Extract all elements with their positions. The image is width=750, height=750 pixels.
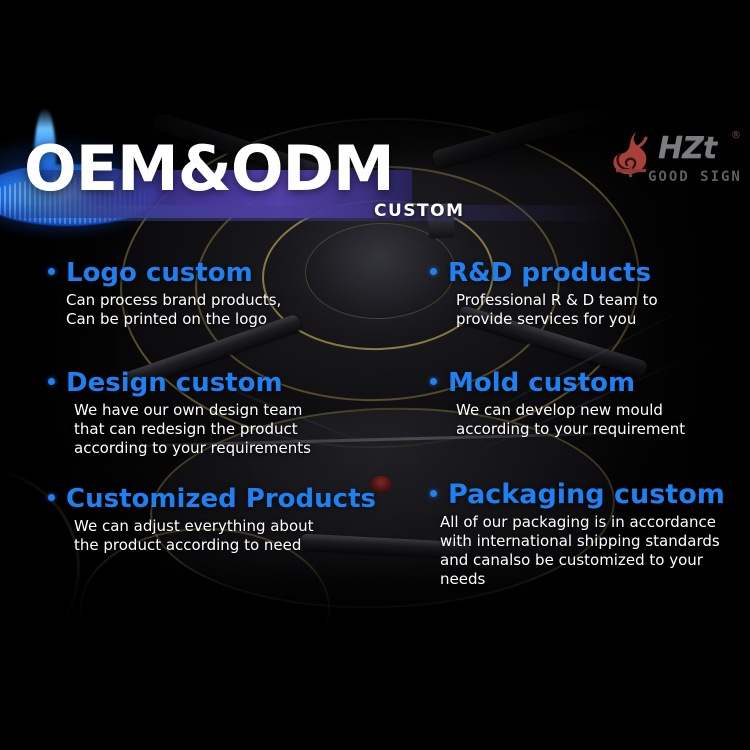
feature-title: R&D products (448, 258, 651, 288)
page-title: OEM&ODM (24, 138, 394, 200)
letterbox-bar-top (0, 0, 750, 108)
feature-description: Professional R & D team to provide servi… (430, 291, 658, 329)
bullet-icon (48, 268, 55, 275)
feature-title: Logo custom (66, 258, 253, 288)
feature-description: We can adjust everything about the produ… (48, 517, 376, 555)
feature-heading: Packaging custom (430, 480, 750, 510)
headline-gradient-band-lower (0, 205, 700, 221)
feature-description: Can process brand products, Can be print… (48, 291, 281, 329)
feature-title: Customized Products (66, 484, 376, 514)
bullet-icon (430, 490, 437, 497)
feature-description: We have our own design team that can red… (48, 401, 311, 458)
feature-mold-custom: Mold custom We can develop new mould acc… (430, 368, 685, 439)
feature-title: Mold custom (448, 368, 635, 398)
feature-title: Design custom (66, 368, 283, 398)
oem-odm-promo-banner: OEM&ODM CUSTOM HZt ® GOOD SIGN Logo cust… (0, 0, 750, 750)
feature-logo-custom: Logo custom Can process brand products, … (48, 258, 281, 329)
page-subtitle: CUSTOM (374, 201, 465, 221)
brand-logo: HZt ® GOOD SIGN (604, 128, 746, 194)
feature-packaging-custom: Packaging custom All of our packaging is… (430, 480, 750, 589)
feature-description: We can develop new mould according to yo… (430, 401, 685, 439)
feature-title: Packaging custom (448, 479, 725, 510)
feature-list: Logo custom Can process brand products, … (0, 258, 750, 598)
feature-heading: Customized Products (48, 484, 376, 514)
letterbox-bar-bottom (0, 626, 750, 750)
feature-customized-products: Customized Products We can adjust everyt… (48, 484, 376, 555)
feature-rd-products: R&D products Professional R & D team to … (430, 258, 658, 329)
bullet-icon (430, 378, 437, 385)
bullet-icon (48, 378, 55, 385)
bullet-icon (430, 268, 437, 275)
bullet-icon (48, 494, 55, 501)
feature-heading: Mold custom (430, 368, 685, 398)
feature-heading: Design custom (48, 368, 311, 398)
feature-heading: Logo custom (48, 258, 281, 288)
logo-wordmark: HZt (658, 134, 716, 164)
feature-design-custom: Design custom We have our own design tea… (48, 368, 311, 458)
logo-tagline: GOOD SIGN (648, 169, 742, 185)
feature-heading: R&D products (430, 258, 658, 288)
registered-trademark-icon: ® (731, 130, 741, 141)
feature-description: All of our packaging is in accordance wi… (430, 513, 750, 589)
